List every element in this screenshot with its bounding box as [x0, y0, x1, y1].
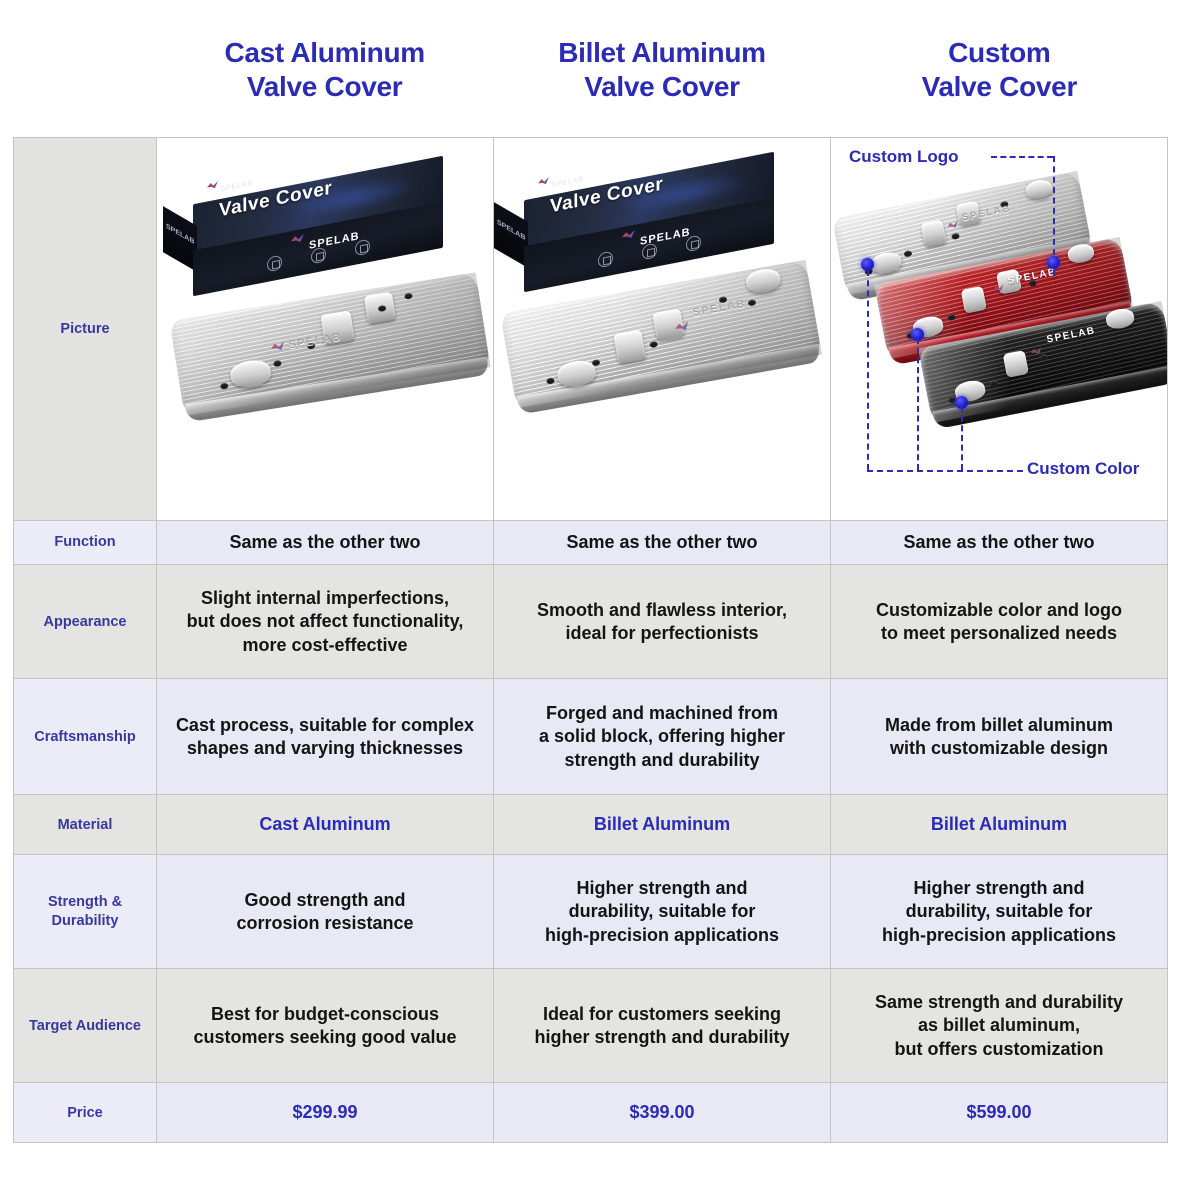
spelab-bolt-logo-icon — [538, 177, 549, 187]
column-headers: Cast Aluminum Valve Cover Billet Aluminu… — [13, 34, 1168, 130]
callout-color-line-v-red — [917, 338, 919, 470]
header-line-2: Valve Cover — [922, 70, 1077, 104]
callout-logo-line-h — [991, 156, 1053, 158]
callout-color-line-h — [867, 470, 1023, 472]
row-label-strength-durability: Strength & Durability — [14, 855, 157, 968]
column-header-billet-aluminum: Billet Aluminum Valve Cover — [493, 34, 830, 130]
table-row-craftsmanship: Craftsmanship Cast process, suitable for… — [14, 678, 1167, 794]
table-row-function: Function Same as the other two Same as t… — [14, 520, 1167, 564]
table-row-strength-durability: Strength & Durability Good strength and … — [14, 854, 1167, 968]
header-line-1: Billet Aluminum — [558, 36, 766, 70]
cell-material-custom: Billet Aluminum — [830, 795, 1167, 854]
row-label-target-audience: Target Audience — [14, 969, 157, 1082]
table-row-material: Material Cast Aluminum Billet Aluminum B… — [14, 794, 1167, 854]
cell-material-cast: Cast Aluminum — [157, 795, 493, 854]
cell-strength-custom: Higher strength and durability, suitable… — [830, 855, 1167, 968]
spelab-bolt-logo-icon — [207, 181, 218, 191]
cell-appearance-billet: Smooth and flawless interior, ideal for … — [493, 565, 830, 678]
cell-audience-custom: Same strength and durability as billet a… — [830, 969, 1167, 1082]
cell-craftsmanship-custom: Made from billet aluminum with customiza… — [830, 679, 1167, 794]
cell-appearance-cast: Slight internal imperfections, but does … — [157, 565, 493, 678]
packaging-box: SPELAB Valve Cover SPELAB SPELAB — [524, 176, 774, 250]
cover-breather-cap — [1003, 350, 1029, 378]
cell-price-billet: $399.00 — [493, 1083, 830, 1142]
cell-audience-cast: Best for budget-conscious customers seek… — [157, 969, 493, 1082]
cell-strength-billet: Higher strength and durability, suitable… — [493, 855, 830, 968]
comparison-table: Picture SPELAB Valve Cover SPELAB — [13, 137, 1168, 1143]
product-scene-custom: SPELAB SPEL — [831, 138, 1167, 520]
cell-strength-cast: Good strength and corrosion resistance — [157, 855, 493, 968]
cover-breather-cap — [920, 220, 946, 248]
cell-price-cast: $299.99 — [157, 1083, 493, 1142]
callout-color-line-v-silver — [867, 270, 869, 470]
header-spacer — [13, 34, 156, 130]
header-line-2: Valve Cover — [584, 70, 739, 104]
picture-cell-custom: SPELAB SPEL — [830, 138, 1167, 520]
callout-custom-logo: Custom Logo — [849, 146, 959, 168]
picture-cell-cast-aluminum: SPELAB Valve Cover SPELAB SPELAB — [157, 138, 493, 520]
cell-function-billet: Same as the other two — [493, 521, 830, 564]
row-label-appearance: Appearance — [14, 565, 157, 678]
row-label-craftsmanship: Craftsmanship — [14, 679, 157, 794]
box-brand-top: SPELAB — [552, 175, 584, 190]
callout-color-line-v-black — [961, 406, 963, 470]
table-row-picture: Picture SPELAB Valve Cover SPELAB — [14, 138, 1167, 520]
cover-breather-cap — [961, 286, 987, 314]
row-label-price: Price — [14, 1083, 157, 1142]
table-row-price: Price $299.99 $399.00 $599.00 — [14, 1082, 1167, 1142]
product-scene-cast: SPELAB Valve Cover SPELAB SPELAB — [157, 138, 493, 520]
column-header-custom: Custom Valve Cover — [831, 34, 1168, 130]
picture-cell-billet-aluminum: SPELAB Valve Cover SPELAB SPELAB — [493, 138, 830, 520]
packaging-box: SPELAB Valve Cover SPELAB SPELAB — [193, 180, 443, 254]
product-scene-billet: SPELAB Valve Cover SPELAB SPELAB — [494, 138, 830, 520]
row-label-function: Function — [14, 521, 157, 564]
cell-material-billet: Billet Aluminum — [493, 795, 830, 854]
callout-logo-marker-red — [1047, 256, 1060, 269]
cell-audience-billet: Ideal for customers seeking higher stren… — [493, 969, 830, 1082]
column-header-cast-aluminum: Cast Aluminum Valve Cover — [156, 34, 493, 130]
cell-function-custom: Same as the other two — [830, 521, 1167, 564]
header-line-1: Cast Aluminum — [224, 36, 424, 70]
cell-craftsmanship-billet: Forged and machined from a solid block, … — [493, 679, 830, 794]
header-line-2: Valve Cover — [247, 70, 402, 104]
header-line-1: Custom — [948, 36, 1050, 70]
row-label-picture: Picture — [14, 138, 157, 520]
box-brand-top: SPELAB — [221, 179, 253, 194]
table-row-appearance: Appearance Slight internal imperfections… — [14, 564, 1167, 678]
table-row-target-audience: Target Audience Best for budget-consciou… — [14, 968, 1167, 1082]
callout-custom-color: Custom Color — [1027, 458, 1139, 480]
cell-craftsmanship-cast: Cast process, suitable for complex shape… — [157, 679, 493, 794]
cover-breather-cap — [613, 329, 646, 363]
cell-appearance-custom: Customizable color and logo to meet pers… — [830, 565, 1167, 678]
row-label-material: Material — [14, 795, 157, 854]
cell-price-custom: $599.00 — [830, 1083, 1167, 1142]
valve-cover-product: SPELAB — [169, 272, 490, 415]
comparison-page: Cast Aluminum Valve Cover Billet Aluminu… — [0, 0, 1200, 1200]
cell-function-cast: Same as the other two — [157, 521, 493, 564]
